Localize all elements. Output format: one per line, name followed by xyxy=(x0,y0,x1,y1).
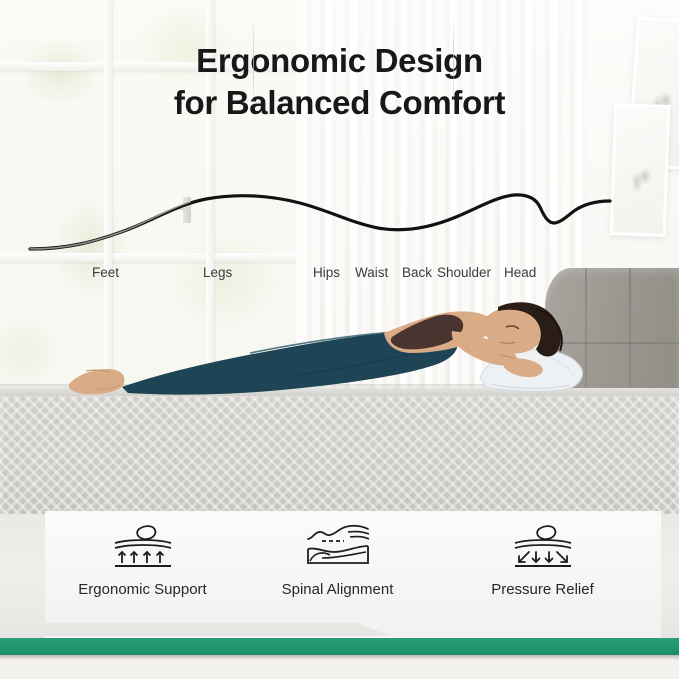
page-title: Ergonomic Design for Balanced Comfort xyxy=(0,40,679,124)
product-marketing-image: Ergonomic Design for Balanced Comfort Fe… xyxy=(0,0,679,679)
feature-pressure-relief[interactable]: Pressure Relief xyxy=(440,518,645,630)
body-contour-curve xyxy=(0,175,679,255)
mattress-downward-arrows-icon xyxy=(507,518,579,570)
zone-label-legs: Legs xyxy=(203,265,232,280)
reclining-body-alignment-icon xyxy=(300,518,376,570)
headline-line-1: Ergonomic Design xyxy=(0,40,679,82)
hand xyxy=(503,358,543,377)
feature-spinal-alignment[interactable]: Spinal Alignment xyxy=(235,518,440,630)
accent-bar xyxy=(0,638,679,655)
zone-label-waist: Waist xyxy=(355,265,388,280)
panel-divider xyxy=(453,14,454,110)
feature-label: Pressure Relief xyxy=(491,581,594,598)
zone-label-feet: Feet xyxy=(92,265,119,280)
feet xyxy=(69,369,124,394)
headline-line-2: for Balanced Comfort xyxy=(0,82,679,124)
floor-shadow xyxy=(0,655,679,660)
panel-divider xyxy=(253,14,254,110)
body-zone-labels: Feet Legs Hips Waist Back Shoulder Head xyxy=(0,265,679,283)
side-sleeping-model xyxy=(0,285,679,400)
mattress-upward-arrows-icon xyxy=(107,518,179,570)
feature-ergonomic-support[interactable]: Ergonomic Support xyxy=(40,518,245,630)
feature-label: Ergonomic Support xyxy=(78,581,206,598)
feature-label: Spinal Alignment xyxy=(282,581,394,598)
zone-label-back: Back xyxy=(402,265,432,280)
quilted-mattress xyxy=(0,388,679,520)
zone-label-head: Head xyxy=(504,265,536,280)
zone-label-hips: Hips xyxy=(313,265,340,280)
zone-label-shoulder: Shoulder xyxy=(437,265,491,280)
